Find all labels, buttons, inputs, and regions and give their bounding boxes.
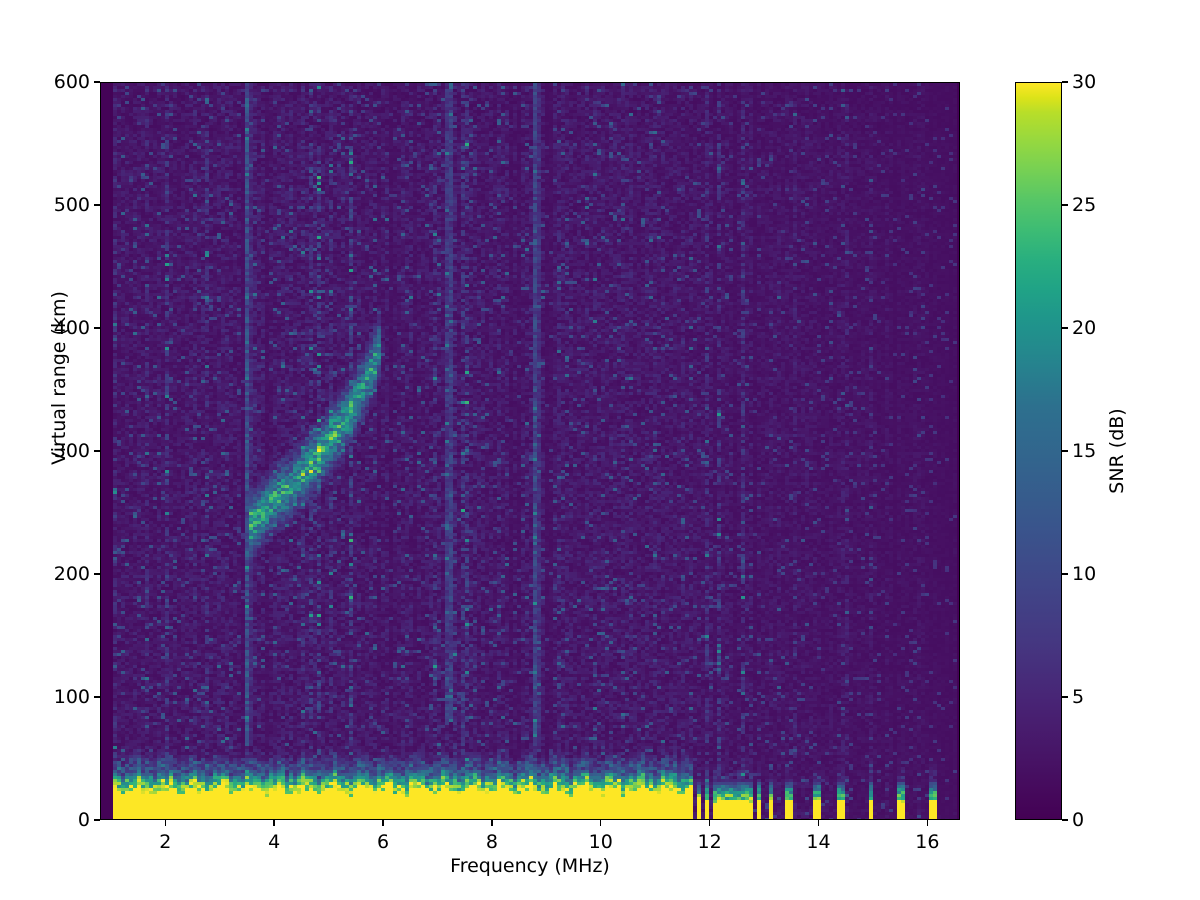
colorbar-tick-mark [1062, 573, 1068, 574]
colorbar-tick-label: 0 [1072, 807, 1084, 833]
x-axis-tick-label: 12 [670, 829, 750, 855]
colorbar-tick-mark [1062, 450, 1068, 451]
x-axis-tick-mark [273, 820, 274, 826]
colorbar-tick-mark [1062, 696, 1068, 697]
x-axis-tick-label: 2 [125, 829, 205, 855]
y-axis-tick-mark [94, 327, 100, 328]
y-axis-tick-mark [94, 204, 100, 205]
y-axis-tick-mark [94, 81, 100, 82]
x-axis-tick-label: 8 [452, 829, 532, 855]
colorbar-tick-mark [1062, 204, 1068, 205]
ionogram-heatmap [101, 83, 960, 820]
x-axis-tick-label: 4 [234, 829, 314, 855]
colorbar-tick-label: 30 [1072, 69, 1096, 95]
colorbar-tick-label: 5 [1072, 684, 1084, 710]
colorbar-gradient [1015, 82, 1062, 820]
x-axis-tick-mark [927, 820, 928, 826]
ionogram-plot-area[interactable] [100, 82, 960, 820]
colorbar-tick-label: 20 [1072, 315, 1096, 341]
colorbar-tick-label: 15 [1072, 438, 1096, 464]
colorbar-tick-label: 10 [1072, 561, 1096, 587]
x-axis-tick-mark [165, 820, 166, 826]
x-axis-tick-mark [382, 820, 383, 826]
x-axis-tick-label: 14 [778, 829, 858, 855]
x-axis-tick-mark [491, 820, 492, 826]
y-axis-tick-label: 0 [78, 807, 90, 833]
y-axis-label: Virtual range (km) [48, 9, 70, 747]
colorbar-tick-mark [1062, 81, 1068, 82]
x-axis-tick-label: 16 [887, 829, 967, 855]
colorbar-label: SNR (dB) [1106, 82, 1132, 820]
x-axis-tick-mark [600, 820, 601, 826]
x-axis-label: Frequency (MHz) [100, 855, 960, 877]
x-axis-tick-label: 6 [343, 829, 423, 855]
x-axis-tick-label: 10 [561, 829, 641, 855]
y-axis-tick-mark [94, 696, 100, 697]
x-axis-tick-mark [818, 820, 819, 826]
x-axis-tick-mark [709, 820, 710, 826]
colorbar-tick-mark [1062, 819, 1068, 820]
colorbar-tick-mark [1062, 327, 1068, 328]
y-axis-tick-mark [94, 573, 100, 574]
colorbar-tick-label: 25 [1072, 192, 1096, 218]
y-axis-tick-mark [94, 450, 100, 451]
